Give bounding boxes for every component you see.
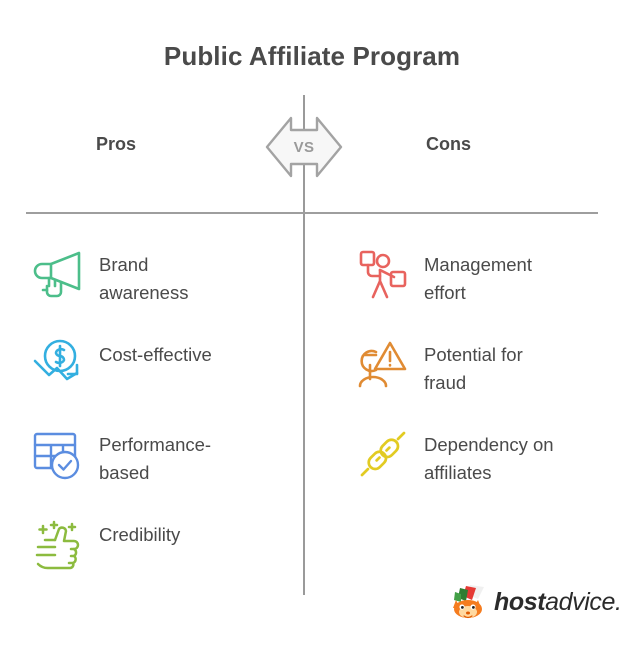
page-title: Public Affiliate Program: [0, 41, 624, 72]
list-item-label: Cost-effective: [89, 333, 289, 369]
logo-host-text: host: [494, 588, 545, 616]
list-item-label: Potential for fraud: [414, 333, 614, 397]
list-item-label: Brand awareness: [89, 243, 289, 307]
horizontal-divider: [26, 212, 598, 214]
logo-wordmark: hostadvice.: [490, 588, 622, 617]
brand-logo[interactable]: hostadvice.: [448, 580, 612, 624]
money-decrease-icon: [27, 333, 89, 395]
infographic-root: Public Affiliate Program VS Pros Cons Br…: [0, 0, 624, 650]
pros-column-header: Pros: [96, 134, 136, 155]
person-juggling-boxes-icon: [352, 243, 414, 305]
list-item-label: Performance- based: [89, 423, 289, 487]
list-item-label: Dependency on affiliates: [414, 423, 614, 487]
table-check-icon: [27, 423, 89, 485]
cons-column-header: Cons: [426, 134, 471, 155]
list-item-label: Management effort: [414, 243, 614, 307]
list-item: Performance- based: [27, 423, 289, 513]
list-item: Credibility: [27, 513, 289, 603]
list-item: Dependency on affiliates: [352, 423, 614, 513]
pros-list: Brand awareness Cost-effective: [27, 243, 289, 603]
megaphone-icon: [27, 243, 89, 305]
fraud-warning-icon: [352, 333, 414, 395]
list-item: Potential for fraud: [352, 333, 614, 423]
thumbs-up-icon: [27, 513, 89, 575]
fox-mascot-icon: [448, 583, 490, 621]
vs-badge: VS: [265, 116, 343, 178]
list-item: Management effort: [352, 243, 614, 333]
vs-label: VS: [265, 116, 343, 178]
chain-link-icon: [352, 423, 414, 485]
list-item-label: Credibility: [89, 513, 289, 549]
cons-list: Management effort Potential for fraud: [352, 243, 614, 513]
list-item: Brand awareness: [27, 243, 289, 333]
logo-advice-text: advice.: [545, 588, 621, 616]
list-item: Cost-effective: [27, 333, 289, 423]
